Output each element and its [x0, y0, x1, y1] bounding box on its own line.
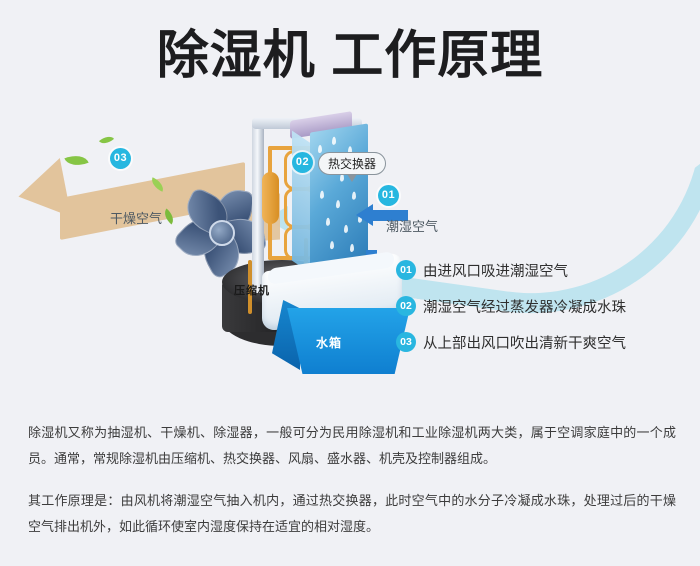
callout-heat-exchanger: 热交换器	[318, 152, 386, 175]
legend-badge-02: 02	[396, 296, 416, 316]
caption-humid-air: 潮湿空气	[386, 216, 438, 235]
paragraph-principle: 其工作原理是：由风机将潮湿空气抽入机内，通过热交换器，此时空气中的水分子冷凝成水…	[28, 488, 676, 540]
legend-badge-01: 01	[396, 260, 416, 280]
fan-hub	[209, 220, 235, 246]
legend-item-01: 01 由进风口吸进潮湿空气	[396, 252, 676, 288]
caption-dry-air: 干燥空气	[110, 208, 162, 227]
badge-01-humid-air: 01	[378, 185, 399, 206]
title-area: 除湿机 工作原理	[0, 28, 700, 85]
legend-item-03: 03 从上部出风口吹出清新干爽空气	[396, 324, 676, 360]
copper-pipe	[268, 222, 272, 260]
water-tank-label: 水箱	[316, 334, 342, 351]
leaf-icon	[99, 133, 114, 147]
compressor-cylinder	[262, 172, 279, 224]
copper-pipe	[268, 146, 272, 176]
paragraph-definition: 除湿机又称为抽湿机、干燥机、除湿器，一般可分为民用除湿机和工业除湿机两大类，属于…	[28, 420, 676, 472]
water-tank	[282, 308, 410, 374]
legend-text-01: 由进风口吸进潮湿空气	[423, 260, 568, 281]
legend-badge-03: 03	[396, 332, 416, 352]
legend-text-03: 从上部出风口吹出清新干爽空气	[423, 332, 626, 353]
evaporator-panel	[310, 123, 368, 264]
leaf-icon	[64, 151, 88, 171]
legend-item-02: 02 潮湿空气经过蒸发器冷凝成水珠	[396, 288, 676, 324]
dry-air-arrow-head	[13, 158, 72, 226]
legend-list: 01 由进风口吸进潮湿空气 02 潮湿空气经过蒸发器冷凝成水珠 03 从上部出风…	[396, 252, 676, 360]
compressor-label: 压缩机	[234, 282, 270, 298]
body-copy: 除湿机又称为抽湿机、干燥机、除湿器，一般可分为民用除湿机和工业除湿机两大类，属于…	[28, 420, 676, 556]
badge-03-dry-air: 03	[110, 148, 131, 169]
badge-02-heat-exchanger: 02	[292, 152, 313, 173]
page-title: 除湿机 工作原理	[157, 28, 543, 85]
legend-text-02: 潮湿空气经过蒸发器冷凝成水珠	[423, 296, 626, 317]
